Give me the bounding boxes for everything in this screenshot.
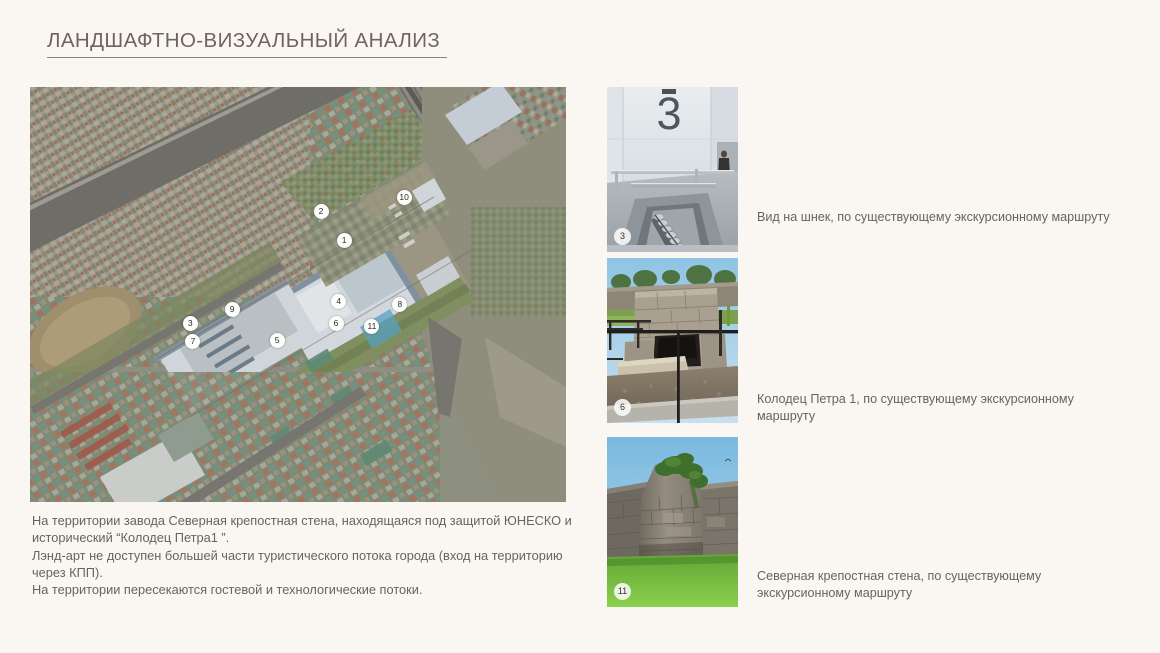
aerial-map-image (30, 87, 566, 502)
photo-badge: 3 (614, 228, 631, 245)
title-underline-rule (47, 57, 447, 58)
photo-row-peter-well: 6 Колодец Петра 1, по существующему экск… (607, 258, 1141, 423)
aerial-map-figure[interactable]: 1234567891011 (30, 87, 566, 502)
photo-caption: Вид на шнек, по существующему экскурсион… (757, 209, 1132, 226)
photo-frame[interactable]: 6 (607, 258, 738, 423)
photo-badge: 11 (614, 583, 631, 600)
photo-row-screw-conveyor: 3 (607, 87, 1141, 252)
photo-caption: Колодец Петра 1, по существующему экскур… (757, 391, 1132, 425)
svg-text:3: 3 (656, 88, 681, 139)
map-description-text: На территории завода Северная крепостная… (32, 512, 592, 598)
photo-row-fortress-wall: 11 Северная крепостная стена, по существ… (607, 437, 1141, 607)
map-marker-10[interactable]: 10 (397, 190, 412, 205)
page-title: ЛАНДШАФТНО-ВИЗУАЛЬНЫЙ АНАЛИЗ (47, 29, 440, 53)
screw-conveyor-photo: 3 (607, 87, 738, 252)
map-marker-1[interactable]: 1 (337, 233, 352, 248)
photo-caption: Северная крепостная стена, по существующ… (757, 568, 1132, 602)
map-marker-6[interactable]: 6 (329, 316, 344, 331)
map-marker-8[interactable]: 8 (392, 297, 407, 312)
photo-frame[interactable]: 11 (607, 437, 738, 607)
photo-badge: 6 (614, 399, 631, 416)
map-marker-5[interactable]: 5 (270, 333, 285, 348)
map-marker-9[interactable]: 9 (225, 302, 240, 317)
north-fortress-wall-photo (607, 437, 738, 607)
peter-the-great-well-photo (607, 258, 738, 423)
map-marker-4[interactable]: 4 (331, 294, 346, 309)
photo-frame[interactable]: 3 (607, 87, 738, 252)
map-marker-2[interactable]: 2 (314, 204, 329, 219)
